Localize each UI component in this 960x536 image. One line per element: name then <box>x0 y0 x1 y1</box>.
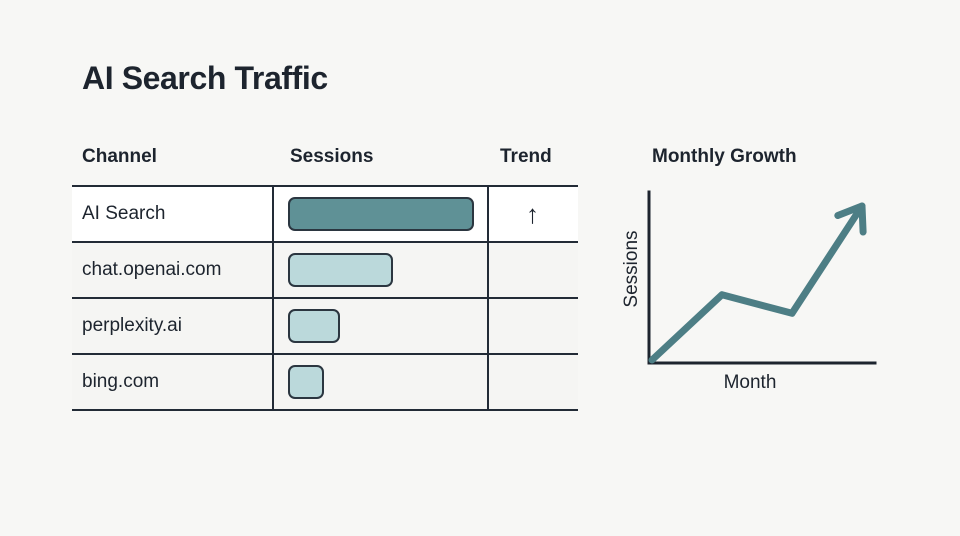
cell-sessions <box>288 299 340 353</box>
page-title: AI Search Traffic <box>82 60 328 97</box>
table-row[interactable]: perplexity.ai <box>72 299 578 353</box>
arrow-up-icon: ↑ <box>487 187 578 241</box>
column-header-sessions: Sessions <box>290 146 373 168</box>
sessions-bar <box>288 253 393 287</box>
table-header-row: Channel Sessions Trend <box>72 136 578 185</box>
column-header-trend: Trend <box>500 146 552 168</box>
sessions-bar <box>288 365 324 399</box>
chart-trend-line <box>652 206 862 360</box>
column-header-channel: Channel <box>82 146 157 168</box>
cell-sessions <box>288 355 324 409</box>
column-divider <box>272 187 274 241</box>
table-row[interactable]: chat.openai.com <box>72 243 578 297</box>
cell-trend <box>487 355 578 409</box>
ai-search-traffic-table: Channel Sessions Trend AI Search ↑ chat.… <box>72 136 578 411</box>
table-row[interactable]: AI Search ↑ <box>72 187 578 241</box>
table-rule-bottom <box>72 409 578 411</box>
column-divider <box>272 355 274 409</box>
cell-trend <box>487 299 578 353</box>
slide-canvas: AI Search Traffic Channel Sessions Trend… <box>0 0 960 536</box>
sessions-bar <box>288 309 340 343</box>
chart-plot-area <box>600 136 900 376</box>
cell-trend <box>487 243 578 297</box>
cell-sessions <box>288 187 474 241</box>
column-divider <box>272 243 274 297</box>
cell-channel: AI Search <box>82 187 165 241</box>
cell-channel: chat.openai.com <box>82 243 221 297</box>
cell-channel: perplexity.ai <box>82 299 182 353</box>
cell-sessions <box>288 243 393 297</box>
table-row[interactable]: bing.com <box>72 355 578 409</box>
cell-channel: bing.com <box>82 355 159 409</box>
monthly-growth-chart: Monthly Growth Sessions Month <box>600 136 900 411</box>
column-divider <box>272 299 274 353</box>
sessions-bar <box>288 197 474 231</box>
